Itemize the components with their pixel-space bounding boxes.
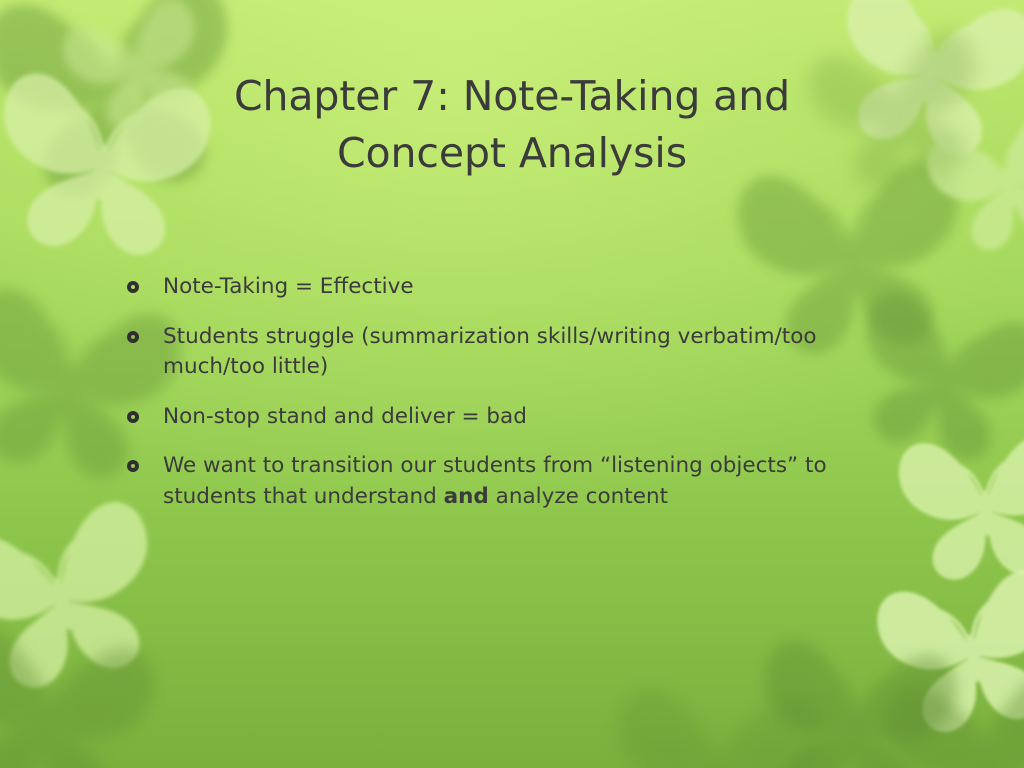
presentation-slide: Chapter 7: Note-Taking and Concept Analy… (0, 0, 1024, 768)
title-line-2: Concept Analysis (337, 129, 687, 177)
list-item: Non-stop stand and deliver = bad (118, 402, 908, 433)
bullet-text: We want to transition our students from … (163, 453, 827, 509)
slide-title-block: Chapter 7: Note-Taking and Concept Analy… (90, 68, 934, 181)
ring-bullet-icon (127, 331, 139, 343)
ring-bullet-icon (127, 411, 139, 423)
list-item: Note-Taking = Effective (118, 272, 908, 303)
ring-bullet-icon (127, 460, 139, 472)
bullet-text: Non-stop stand and deliver = bad (163, 404, 527, 429)
page-title: Chapter 7: Note-Taking and Concept Analy… (90, 68, 934, 181)
bullet-text: Note-Taking = Effective (163, 274, 414, 299)
list-item: Students struggle (summarization skills/… (118, 322, 908, 383)
slide-body-block: Note-Taking = Effective Students struggl… (118, 272, 908, 512)
list-item: We want to transition our students from … (118, 451, 908, 512)
bullet-list: Note-Taking = Effective Students struggl… (118, 272, 908, 512)
slide-content: Chapter 7: Note-Taking and Concept Analy… (0, 0, 1024, 768)
ring-bullet-icon (127, 281, 139, 293)
bullet-text: Students struggle (summarization skills/… (163, 324, 817, 380)
title-line-1: Chapter 7: Note-Taking and (234, 72, 790, 120)
